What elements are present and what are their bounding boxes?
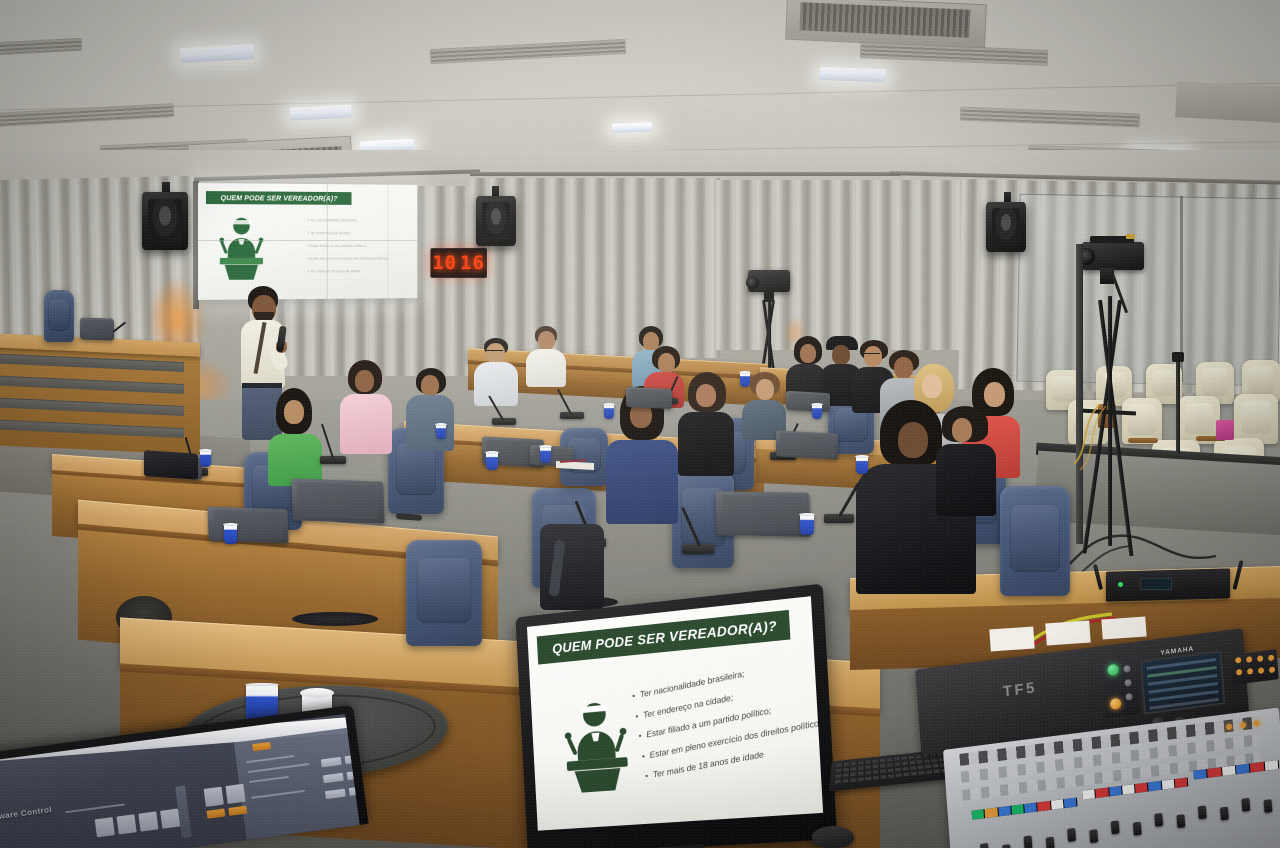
head <box>922 374 942 398</box>
channel-fader[interactable] <box>1046 837 1055 848</box>
delegate-monitor[interactable] <box>207 507 288 544</box>
head <box>355 370 374 392</box>
projection-bullet: Ter nacionalidade brasileira; <box>308 217 389 222</box>
projection-bullet: Ter endereço na cidade; <box>308 230 389 235</box>
gallery-seat[interactable] <box>1234 394 1278 444</box>
camera-lens <box>746 276 759 289</box>
torso <box>678 412 734 476</box>
head <box>952 418 972 442</box>
head <box>832 345 850 365</box>
channel-fader[interactable] <box>1024 835 1033 848</box>
pa-speaker <box>142 192 188 250</box>
channel-fader[interactable] <box>1154 813 1163 827</box>
projection-bullet-list: Ter nacionalidade brasileira; Ter endere… <box>308 217 389 281</box>
ceiling-light <box>820 67 886 82</box>
ac-cassette <box>1175 81 1280 123</box>
channel-fader[interactable] <box>1198 805 1207 819</box>
software-title: Software Control <box>0 805 52 823</box>
backpack <box>540 524 604 610</box>
projection-bullet: Estar em pleno exercício dos direitos po… <box>308 256 389 261</box>
foreground-monitor: QUEM PODE SER VEREADOR(A)? <box>515 584 837 848</box>
ceiling-light <box>180 44 255 63</box>
water-cup[interactable] <box>604 404 614 419</box>
rack-led <box>1118 582 1123 587</box>
clock-hours: 10 <box>432 254 457 273</box>
channel-fader[interactable] <box>1264 799 1273 813</box>
hvac-vent <box>960 107 1140 128</box>
delegate-monitor[interactable] <box>626 387 672 409</box>
participant <box>524 326 568 388</box>
camera-light <box>1126 234 1135 239</box>
head <box>756 379 774 400</box>
desk-microphone-base[interactable] <box>492 418 516 425</box>
rack-display <box>1140 578 1172 590</box>
water-cup[interactable] <box>740 372 750 387</box>
president-dais <box>0 345 200 455</box>
water-cup[interactable] <box>200 450 211 467</box>
water-cup[interactable] <box>486 452 498 470</box>
paper-sheet <box>1045 620 1090 645</box>
delegate-monitor[interactable] <box>786 391 830 412</box>
channel-fader[interactable] <box>1067 828 1076 842</box>
water-cup[interactable] <box>800 514 814 535</box>
head <box>538 331 555 350</box>
channel-fader[interactable] <box>1002 844 1011 848</box>
student <box>936 406 1002 516</box>
projection-slide-title: QUEM PODE SER VEREADOR(A)? <box>221 193 338 203</box>
hvac-vent <box>0 38 82 55</box>
pa-speaker <box>986 202 1026 252</box>
podium-speaker-icon <box>559 695 634 795</box>
participant <box>474 338 520 406</box>
head <box>696 384 716 407</box>
mouse[interactable] <box>812 826 854 848</box>
cup-rim <box>300 688 334 698</box>
paper-sheet <box>989 626 1034 651</box>
channel-fader[interactable] <box>1111 820 1120 834</box>
student <box>338 360 396 456</box>
council-chamber-photo: QUEM PODE SER VEREADOR(A)? Ter nacionali… <box>0 0 1280 848</box>
podium-speaker-icon <box>216 215 267 281</box>
audio-mixing-console[interactable]: TF5 YAMAHA <box>914 629 1280 848</box>
torso <box>936 444 996 516</box>
dais-monitor[interactable] <box>80 317 114 340</box>
mixer-status-led <box>1254 720 1260 727</box>
torso <box>474 362 518 406</box>
mixer-touchscreen[interactable] <box>1140 650 1225 714</box>
student <box>264 388 326 486</box>
clock-minutes: 16 <box>460 253 485 272</box>
torso <box>606 440 678 524</box>
torso <box>406 395 454 451</box>
curtain-panel <box>716 180 966 350</box>
pa-speaker <box>476 196 516 246</box>
channel-fader[interactable] <box>980 843 989 848</box>
channel-name-strip <box>972 797 1078 819</box>
mixer-button-panel[interactable] <box>1101 656 1141 718</box>
camera-mount <box>764 290 774 302</box>
water-cup[interactable] <box>436 424 446 439</box>
water-cup[interactable] <box>224 524 237 544</box>
chair-base <box>292 612 378 626</box>
head <box>984 382 1005 407</box>
presiding-chair[interactable] <box>44 290 74 342</box>
water-cup[interactable] <box>812 404 822 419</box>
channel-fader[interactable] <box>1176 814 1185 828</box>
channel-fader[interactable] <box>1133 822 1142 836</box>
projection-slide-header: QUEM PODE SER VEREADOR(A)? <box>206 191 352 205</box>
head <box>658 353 675 373</box>
head <box>284 400 304 424</box>
slide-body: Ter nacionalidade brasileira; Ter endere… <box>529 641 823 830</box>
torso <box>340 394 392 454</box>
curtain-rail <box>470 172 900 176</box>
water-cup[interactable] <box>540 446 551 463</box>
projection-bullet: Ter mais de 18 anos de idade <box>308 268 389 273</box>
pink-bag <box>1216 420 1234 440</box>
eyeglasses <box>863 353 880 357</box>
head <box>421 375 439 396</box>
slide-bullet-list: Ter nacionalidade brasileira; Ter endere… <box>631 654 823 791</box>
glass-partition <box>1016 194 1280 387</box>
led-clock: 10 16 <box>430 248 487 278</box>
hvac-vent <box>430 39 627 64</box>
mic-stand-head <box>1172 352 1184 362</box>
projection-screen: QUEM PODE SER VEREADOR(A)? Ter nacionali… <box>198 183 417 300</box>
delegate-chair[interactable] <box>1000 486 1070 596</box>
delegate-monitor[interactable] <box>715 491 810 537</box>
ceiling-light <box>290 104 353 120</box>
ceiling-light <box>612 122 652 132</box>
channel-fader[interactable] <box>1220 807 1229 821</box>
delegate-monitor[interactable] <box>291 478 384 523</box>
channel-fader[interactable] <box>1089 829 1098 843</box>
delegate-chair[interactable] <box>406 540 482 646</box>
channel-fader[interactable] <box>1241 798 1250 812</box>
camera-bag <box>144 450 198 480</box>
projection-bullet: Estar filiado a um partido político; <box>308 243 389 248</box>
water-cup[interactable] <box>856 456 868 474</box>
paper-sheet <box>1101 616 1146 639</box>
desk-microphone-base[interactable] <box>560 412 584 419</box>
floor-cables <box>1060 400 1180 490</box>
torso <box>526 349 566 387</box>
head <box>898 422 928 458</box>
delegate-monitor[interactable] <box>776 430 838 459</box>
student <box>404 368 458 454</box>
monitor-panel: QUEM PODE SER VEREADOR(A)? <box>527 596 823 831</box>
eyeglasses <box>485 350 503 354</box>
head <box>800 344 816 363</box>
